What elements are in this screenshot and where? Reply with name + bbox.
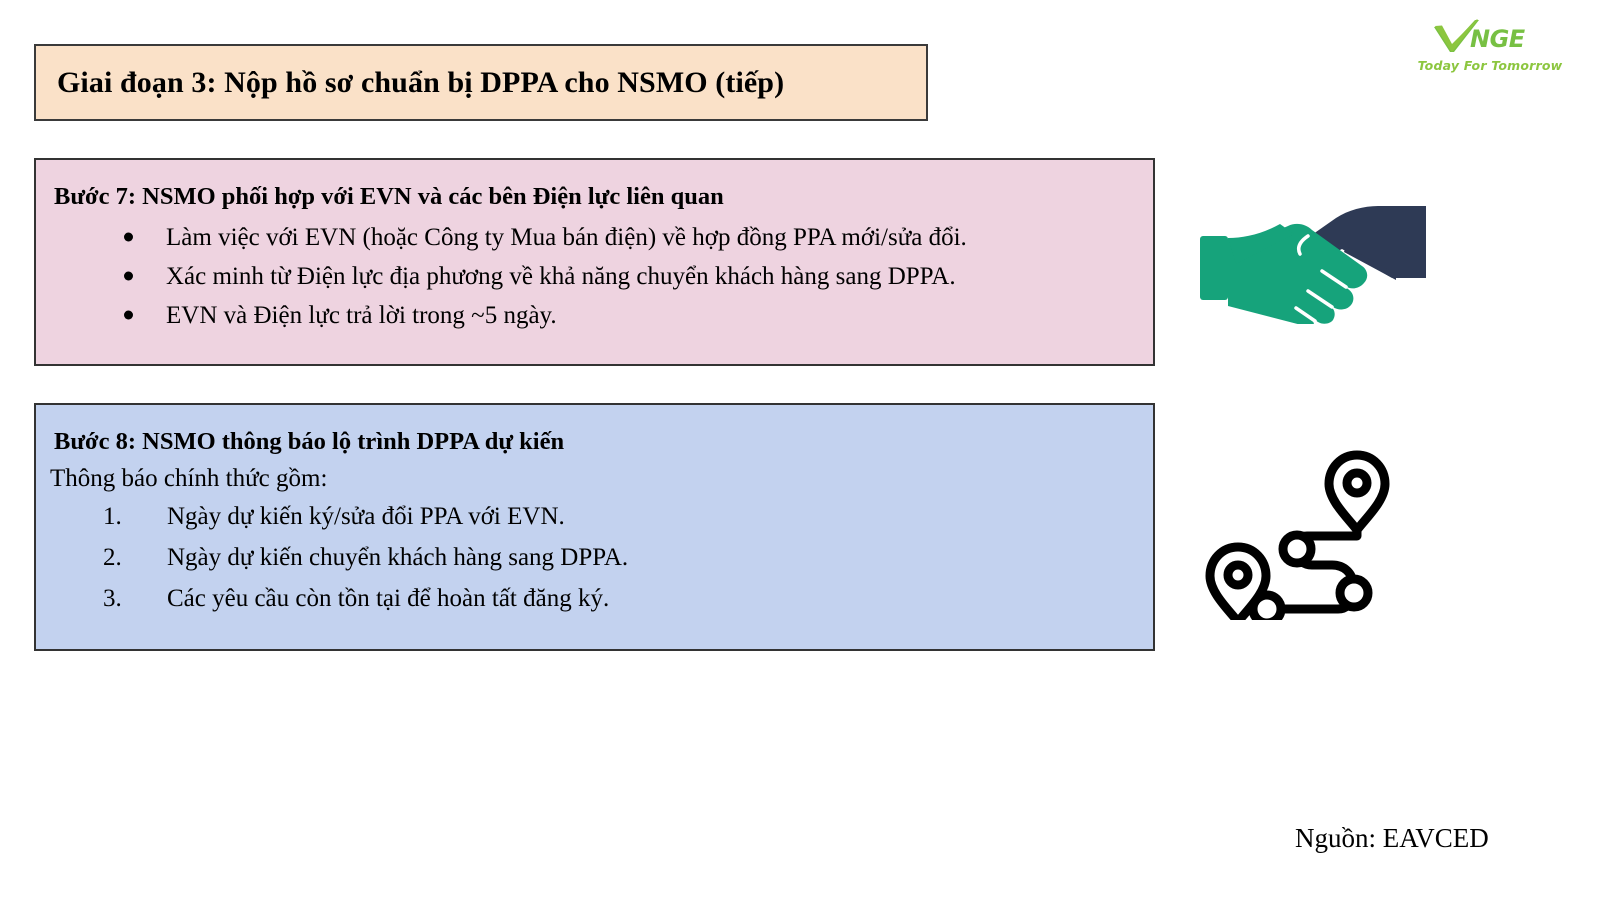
vnge-logo: NGE Today For Tomorrow bbox=[1410, 18, 1570, 88]
list-item-text: Ngày dự kiến ký/sửa đổi PPA với EVN. bbox=[167, 503, 565, 530]
list-item: EVN và Điện lực trả lời trong ~5 ngày. bbox=[36, 296, 1153, 335]
waypoint-3 bbox=[1253, 595, 1281, 620]
list-item-number: 3. bbox=[103, 586, 122, 611]
map-pin-bottom-hole bbox=[1228, 565, 1248, 585]
bullet-dot-icon bbox=[124, 311, 133, 320]
list-item-text: Làm việc với EVN (hoặc Công ty Mua bán đ… bbox=[166, 224, 967, 251]
step7-box: Bước 7: NSMO phối hợp với EVN và các bên… bbox=[34, 158, 1155, 366]
logo-wordmark: NGE bbox=[1470, 27, 1525, 51]
list-item-text: Các yêu cầu còn tồn tại để hoàn tất đăng… bbox=[167, 585, 609, 612]
list-item: 1. Ngày dự kiến ký/sửa đổi PPA với EVN. bbox=[36, 496, 1153, 537]
map-pin-top-hole bbox=[1347, 473, 1367, 493]
bullet-dot-icon bbox=[124, 233, 133, 242]
step8-box: Bước 8: NSMO thông báo lộ trình DPPA dự … bbox=[34, 403, 1155, 651]
bullet-dot-icon bbox=[124, 272, 133, 281]
list-item: 3. Các yêu cầu còn tồn tại để hoàn tất đ… bbox=[36, 578, 1153, 619]
list-item-text: Xác minh từ Điện lực địa phương về khả n… bbox=[166, 263, 956, 290]
step8-numbered-list: 1. Ngày dự kiến ký/sửa đổi PPA với EVN. … bbox=[36, 492, 1153, 619]
logo-tagline: Today For Tomorrow bbox=[1410, 58, 1570, 73]
slide-title-banner: Giai đoạn 3: Nộp hồ sơ chuẩn bị DPPA cho… bbox=[34, 44, 928, 121]
list-item: Làm việc với EVN (hoặc Công ty Mua bán đ… bbox=[36, 218, 1153, 257]
logo-mark: NGE bbox=[1410, 18, 1570, 58]
waypoint-1 bbox=[1283, 535, 1311, 563]
step8-heading: Bước 8: NSMO thông báo lộ trình DPPA dự … bbox=[36, 405, 1153, 456]
handshake-icon bbox=[1196, 194, 1428, 324]
source-note: Nguồn: EAVCED bbox=[1295, 823, 1489, 854]
waypoint-2 bbox=[1340, 579, 1368, 607]
page-title: Giai đoạn 3: Nộp hồ sơ chuẩn bị DPPA cho… bbox=[36, 66, 784, 100]
step7-bullet-list: Làm việc với EVN (hoặc Công ty Mua bán đ… bbox=[36, 211, 1153, 335]
list-item: 2. Ngày dự kiến chuyển khách hàng sang D… bbox=[36, 537, 1153, 578]
list-item: Xác minh từ Điện lực địa phương về khả n… bbox=[36, 257, 1153, 296]
step7-heading: Bước 7: NSMO phối hợp với EVN và các bên… bbox=[36, 160, 1153, 211]
route-map-pins-icon bbox=[1205, 445, 1390, 620]
step8-intro: Thông báo chính thức gồm: bbox=[36, 456, 1153, 493]
list-item-number: 2. bbox=[103, 545, 122, 570]
list-item-text: EVN và Điện lực trả lời trong ~5 ngày. bbox=[166, 302, 557, 329]
list-item-text: Ngày dự kiến chuyển khách hàng sang DPPA… bbox=[167, 544, 628, 571]
list-item-number: 1. bbox=[103, 504, 122, 529]
